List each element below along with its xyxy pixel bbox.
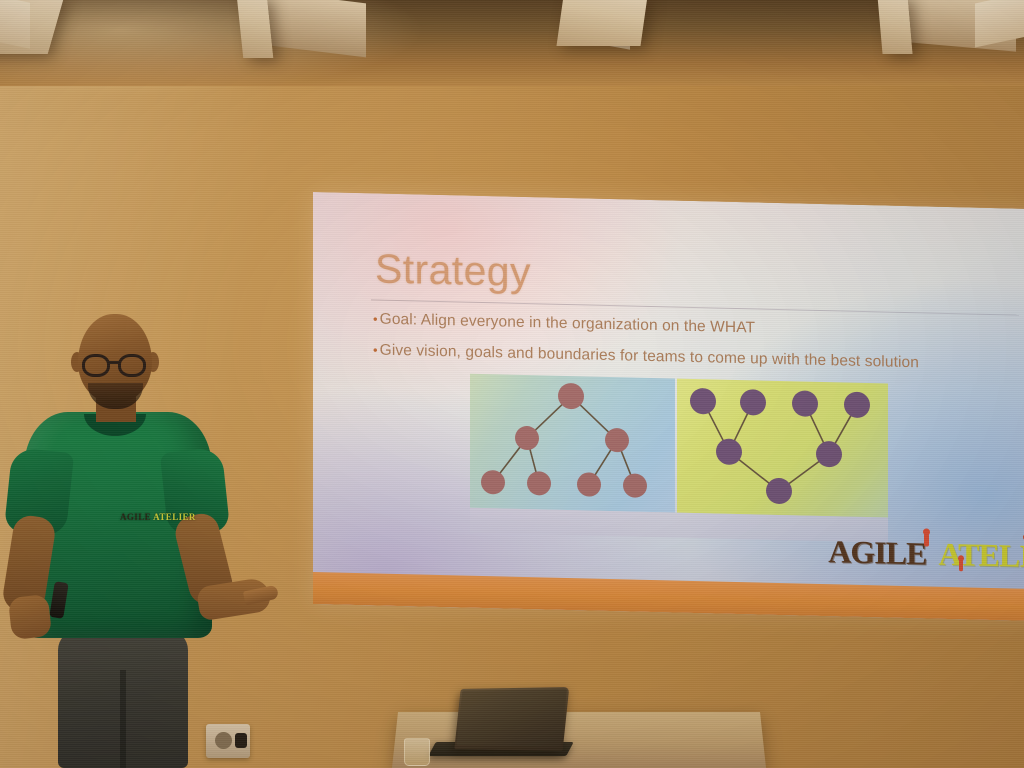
laptop (454, 687, 569, 751)
presenter-hand-left (8, 594, 52, 640)
logo-climber-figure-icon (924, 533, 929, 546)
ceiling-beam (877, 0, 912, 54)
logo-word-atelier: ATELIE (938, 536, 1024, 576)
laptop-screen (457, 689, 567, 747)
ceiling-beam (556, 0, 647, 46)
tree-node (844, 392, 870, 419)
logo-climber-figure-icon (959, 559, 963, 571)
slide-title: Strategy (375, 245, 531, 296)
bottom-up-panel (677, 379, 888, 518)
ceiling-beam-face (0, 0, 30, 49)
tree-node (716, 438, 742, 465)
tree-node (816, 441, 842, 468)
tree-node (623, 473, 647, 498)
bullet-marker-icon: • (373, 311, 378, 326)
ceiling-beam (237, 0, 274, 58)
eyeglasses-lens-left-icon (82, 354, 110, 377)
tree-node (605, 428, 629, 453)
top-down-panel (470, 374, 675, 513)
tree-node (481, 470, 505, 495)
drinking-glass (404, 738, 430, 766)
tree-node (740, 389, 766, 416)
bottom-up-tree-graphic (677, 379, 888, 518)
tshirt-logo: AGILE ATELIER (120, 512, 196, 522)
agile-atelier-logo: AGILE ATELIE (828, 533, 1024, 575)
trouser-seam (120, 670, 126, 768)
tree-node (527, 471, 551, 496)
table (392, 712, 766, 768)
approach-comparison-diagram: Top-down ApproachVsBottom-up Approach (470, 374, 888, 539)
eyeglasses-lens-right-icon (118, 354, 146, 377)
tree-node (690, 388, 716, 415)
ceiling-light-glow (0, 0, 1024, 96)
tree-node (766, 478, 792, 505)
eyeglasses-bridge-icon (109, 361, 120, 364)
projected-slide: Strategy •Goal: Align everyone in the or… (313, 192, 1024, 621)
tree-node (577, 472, 601, 497)
top-down-tree-graphic (470, 374, 675, 513)
tshirt-logo-agile: AGILE (120, 512, 151, 522)
presenter: AGILE ATELIER (0, 300, 300, 768)
presentation-photo: Strategy •Goal: Align everyone in the or… (0, 0, 1024, 768)
tree-node (792, 390, 818, 417)
tshirt-logo-atelier: ATELIER (153, 512, 196, 522)
bullet-marker-icon: • (373, 342, 378, 357)
logo-word-agile: AGILE (828, 533, 926, 572)
